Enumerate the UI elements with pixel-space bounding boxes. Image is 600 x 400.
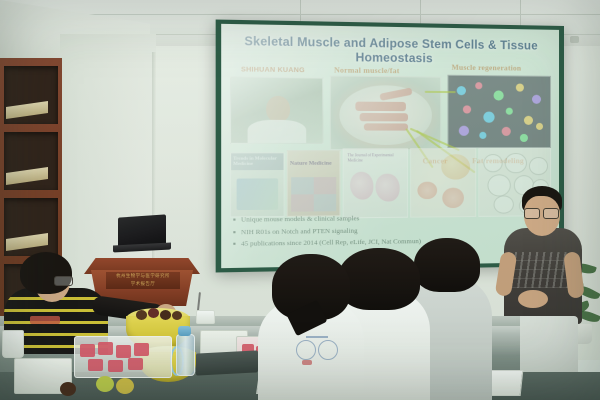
- slide-regeneration-photo: [447, 75, 551, 148]
- shirt-print-bar: [306, 336, 328, 338]
- attendee-left-shirt-logo: [30, 316, 60, 324]
- paper-cup: [2, 330, 24, 358]
- slide-cover-jem: The Journal of Experimental Medicine: [343, 148, 408, 218]
- shirt-print-icon: [296, 340, 316, 360]
- attendee-front-2-hair: [338, 248, 420, 310]
- cover-title-naturemed: Nature Medicine: [290, 160, 332, 166]
- fruit-item: [172, 311, 182, 320]
- cover-title-trends: Trends in Molecular Medicine: [233, 155, 283, 166]
- presenter-shorts: [512, 316, 578, 376]
- shirt-print-dot: [302, 360, 312, 365]
- bottle-cap: [178, 326, 191, 336]
- slide-cancer-photo: [410, 148, 476, 218]
- podium-plaque-line-2: 学术报告厅: [106, 281, 180, 288]
- slide-label-normal: Normal muscle/fat: [334, 65, 399, 75]
- attendee-front-3-hair: [414, 238, 480, 292]
- slide-cover-trends: Trends in Molecular Medicine: [230, 152, 285, 217]
- podium-plaque-line-1: 杭州生物学与医学研究所: [106, 273, 180, 280]
- seminar-room-photo: Skeletal Muscle and Adipose Stem Cells &…: [0, 0, 600, 400]
- fruit-item: [60, 382, 76, 396]
- slide-presenter-name: SHIHUAN KUANG: [241, 66, 305, 74]
- fruit-item: [160, 310, 171, 320]
- fruit-item: [148, 308, 159, 318]
- paper-cup: [196, 310, 215, 324]
- water-bottle: [176, 334, 195, 376]
- attendee-left-glasses: [54, 276, 73, 286]
- fruit-item: [136, 310, 147, 320]
- slide-portrait-photo: [230, 77, 323, 144]
- presenter-glasses: [524, 208, 558, 217]
- ceiling-speaker: [570, 36, 579, 43]
- slide-label-regeneration: Muscle regeneration: [452, 63, 522, 73]
- slide-muscle-photo: [330, 76, 441, 151]
- fruit-item: [116, 378, 134, 394]
- slide-cover-naturemed: Nature Medicine: [287, 150, 341, 217]
- slide-bullet-list: Unique mouse models & clinical samples N…: [232, 213, 421, 251]
- table-laptop: [196, 350, 258, 375]
- presenter-hands: [518, 290, 548, 308]
- podium-plaque: 杭州生物学与医学研究所 学术报告厅: [106, 272, 180, 289]
- cover-title-jem: The Journal of Experimental Medicine: [348, 153, 407, 164]
- attendee-left-hair: [20, 252, 72, 294]
- shirt-print-icon: [318, 340, 338, 360]
- fruit-item: [96, 376, 114, 392]
